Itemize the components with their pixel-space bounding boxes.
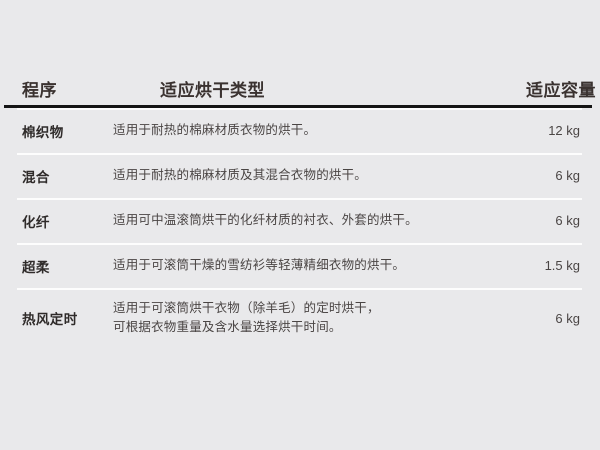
cell-capacity: 6 kg (555, 213, 580, 228)
cell-program: 热风定时 (22, 308, 78, 328)
column-header-description: 适应烘干类型 (160, 76, 265, 101)
cell-capacity: 6 kg (555, 311, 580, 326)
cell-description: 适用可中温滚筒烘干的化纤材质的衬衣、外套的烘干。 (113, 211, 418, 230)
cell-program: 超柔 (22, 256, 50, 276)
page-root: 程序 适应烘干类型 适应容量 棉织物 适用于耐热的棉麻材质衣物的烘干。 12 k… (0, 0, 600, 450)
column-header-capacity: 适应容量 (526, 76, 596, 101)
cell-capacity: 1.5 kg (545, 258, 580, 273)
table-row: 化纤 适用可中温滚筒烘干的化纤材质的衬衣、外套的烘干。 6 kg (4, 198, 596, 243)
table-row: 混合 适用于耐热的棉麻材质及其混合衣物的烘干。 6 kg (4, 153, 596, 198)
cell-program: 化纤 (22, 211, 50, 231)
cell-capacity: 6 kg (555, 168, 580, 183)
cell-description: 适用于可滚筒烘干衣物（除羊毛）的定时烘干， 可根据衣物重量及含水量选择烘干时间。 (113, 299, 380, 337)
cell-capacity: 12 kg (548, 123, 580, 138)
cell-description: 适用于耐热的棉麻材质及其混合衣物的烘干。 (113, 166, 367, 185)
table-header-row: 程序 适应烘干类型 适应容量 (4, 62, 596, 105)
drying-program-table: 程序 适应烘干类型 适应容量 棉织物 适用于耐热的棉麻材质衣物的烘干。 12 k… (4, 62, 596, 348)
table-row: 热风定时 适用于可滚筒烘干衣物（除羊毛）的定时烘干， 可根据衣物重量及含水量选择… (4, 288, 596, 348)
table-row: 棉织物 适用于耐热的棉麻材质衣物的烘干。 12 kg (4, 108, 596, 153)
cell-program: 棉织物 (22, 121, 64, 141)
column-header-program: 程序 (22, 76, 57, 101)
table-row: 超柔 适用于可滚筒干燥的雪纺衫等轻薄精细衣物的烘干。 1.5 kg (4, 243, 596, 288)
cell-program: 混合 (22, 166, 50, 186)
cell-description: 适用于可滚筒干燥的雪纺衫等轻薄精细衣物的烘干。 (113, 256, 405, 275)
cell-description: 适用于耐热的棉麻材质衣物的烘干。 (113, 121, 316, 140)
